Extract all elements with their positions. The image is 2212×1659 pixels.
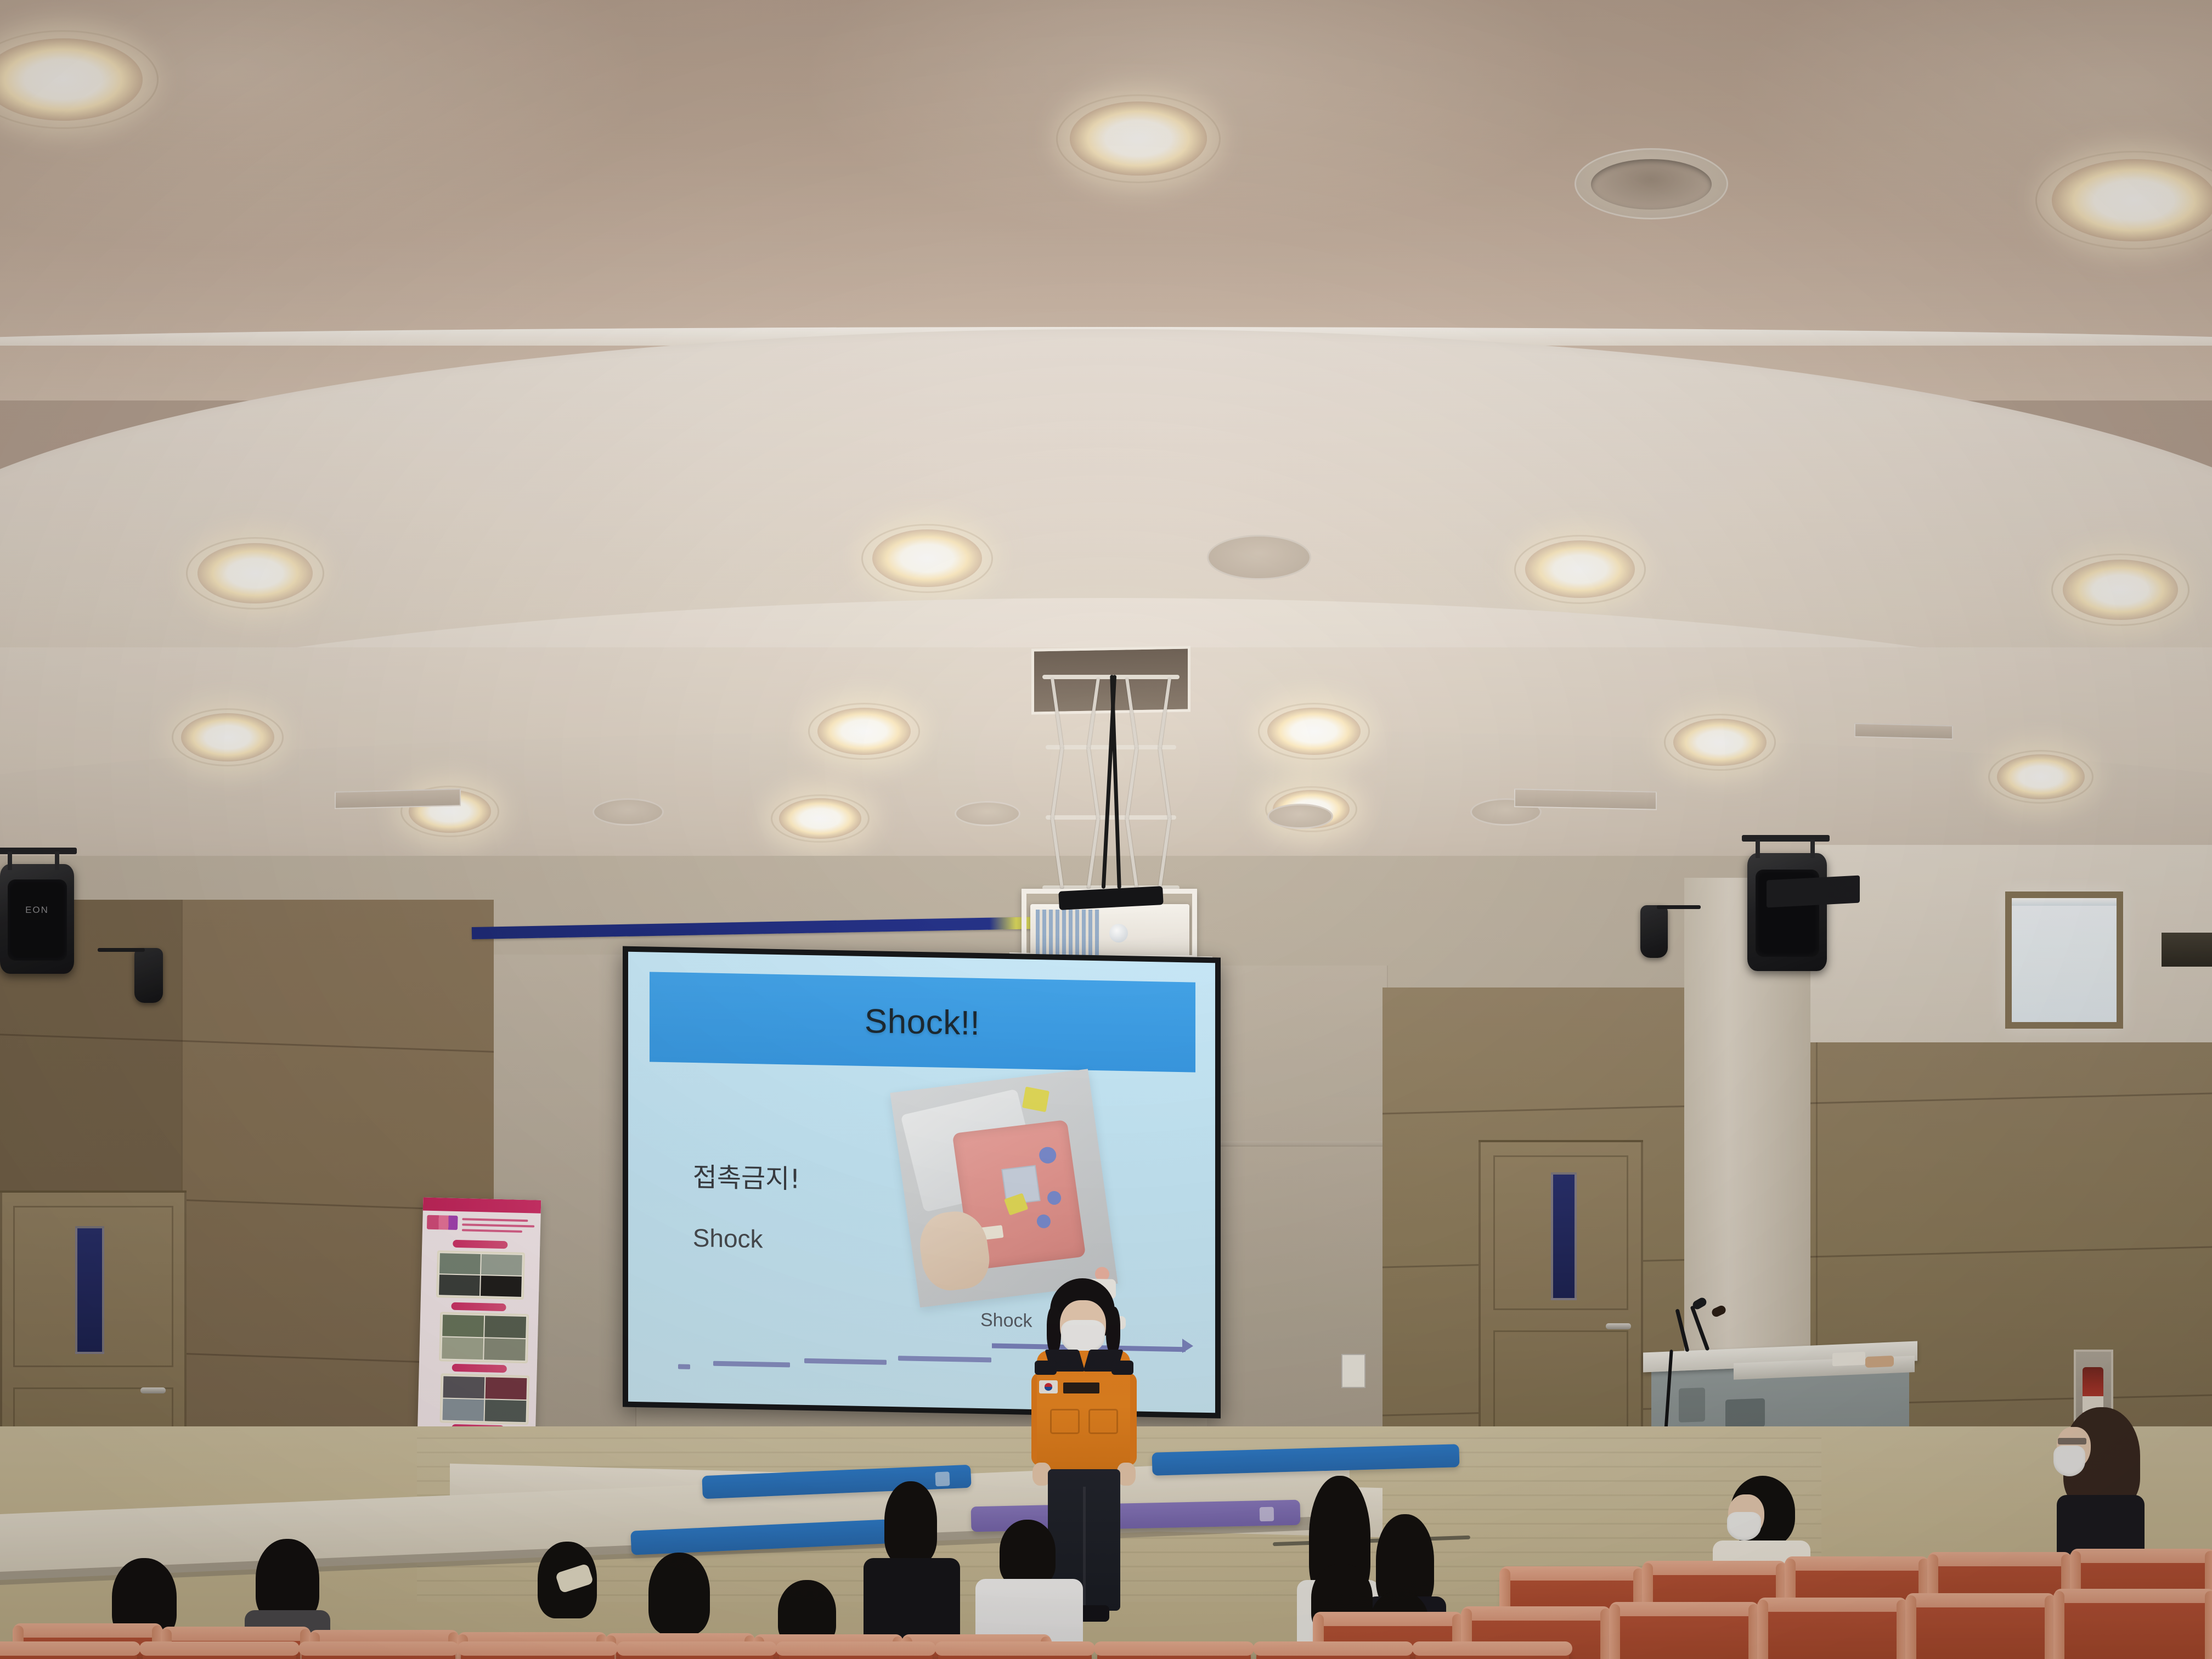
- theater-seat[interactable]: [143, 1646, 296, 1659]
- wall-panel-seam: [1207, 1141, 1388, 1147]
- poster-photo-grid: [436, 1250, 525, 1300]
- speaker-arm: [55, 851, 59, 870]
- theater-seat[interactable]: [620, 1646, 774, 1659]
- speaker-arm: [1756, 839, 1760, 858]
- ceiling-downlight: [872, 529, 982, 587]
- speaker-arm: [1810, 839, 1815, 858]
- stage-light-arm: [1657, 905, 1701, 909]
- ceiling-downlight: [198, 543, 313, 603]
- speaker-arm: [8, 851, 12, 870]
- podium-control-panel: [1725, 1398, 1765, 1429]
- ceiling-vent-disc: [1207, 535, 1311, 580]
- instructor-face-mask: [1061, 1320, 1105, 1354]
- ceiling-downlight: [2063, 560, 2178, 620]
- ceiling-downlight: [181, 713, 274, 761]
- ceiling-vent-disc: [955, 801, 1020, 826]
- slide-english-text: Shock: [693, 1223, 763, 1254]
- attendee-right-with-glasses: [2049, 1407, 2153, 1572]
- instructor-hair-side: [1106, 1307, 1120, 1354]
- instructor-hair-side: [1047, 1307, 1061, 1354]
- korean-flag-patch-icon: [1039, 1380, 1058, 1393]
- instructor-pocket: [1050, 1409, 1080, 1434]
- poster-photo-grid: [439, 1373, 529, 1425]
- ceiling-downlight: [2052, 159, 2212, 241]
- theater-seat[interactable]: [0, 1646, 137, 1659]
- ceiling-downlight: [1997, 754, 2085, 799]
- aed-button: [1038, 1146, 1058, 1165]
- auditorium-scene: EON EON: [0, 0, 2212, 1659]
- slide-progress-arrowhead: [1182, 1339, 1193, 1353]
- aed-button: [1046, 1190, 1062, 1205]
- door-glass-panel: [1551, 1172, 1577, 1300]
- aed-pad-connector: [1022, 1087, 1049, 1113]
- ceiling-air-vent: [1854, 723, 1953, 740]
- slide-title-banner: Shock!!: [650, 972, 1195, 1073]
- speaker-bracket-right: [1742, 835, 1830, 842]
- instructor-epaulette: [1035, 1361, 1057, 1375]
- theater-seat[interactable]: [302, 1646, 455, 1659]
- instructor-name-tag: [1063, 1383, 1099, 1393]
- ceiling-vent-disc: [592, 798, 664, 826]
- instructor-pocket: [1088, 1409, 1118, 1434]
- papers-on-podium: [1832, 1352, 1865, 1367]
- door-glass-panel: [75, 1226, 104, 1354]
- stage-light-left: [134, 948, 163, 1003]
- ceiling-downlight: [1070, 101, 1207, 176]
- wall-switch-plate[interactable]: [1341, 1354, 1365, 1388]
- projector-scissor-lift: [1042, 675, 1180, 894]
- eyeglasses-icon: [2058, 1438, 2086, 1444]
- aed-device-photo: [890, 1069, 1118, 1308]
- speaker-right: EON: [1747, 853, 1827, 971]
- podium-panel: [1679, 1387, 1705, 1423]
- ceiling-vent: [1591, 159, 1712, 210]
- theater-seat[interactable]: [1256, 1646, 1410, 1659]
- poster-logo: [427, 1215, 458, 1230]
- theater-seat[interactable]: [461, 1646, 614, 1659]
- stage-light-arm: [98, 948, 145, 952]
- ceiling-vent-disc: [1267, 804, 1333, 829]
- theater-seat[interactable]: [779, 1646, 933, 1659]
- aed-button: [1036, 1214, 1052, 1229]
- ceiling-downlight: [1525, 540, 1635, 598]
- ceiling-downlight: [1673, 719, 1767, 766]
- door-handle-left: [140, 1387, 166, 1393]
- instructor-epaulette: [1111, 1361, 1133, 1375]
- ceiling-air-vent: [335, 788, 461, 809]
- theater-seat[interactable]: [1415, 1646, 1569, 1659]
- poster-photo-grid: [439, 1312, 529, 1363]
- theater-seat[interactable]: [938, 1646, 1092, 1659]
- ceiling-downlight: [0, 38, 143, 121]
- speaker-left: EON: [0, 864, 74, 974]
- theater-seat[interactable]: [1097, 1646, 1251, 1659]
- ceiling-downlight: [817, 708, 911, 755]
- slide-title-text: Shock!!: [865, 1002, 980, 1043]
- wall-air-vent: [2162, 933, 2212, 967]
- object-on-podium: [1865, 1356, 1894, 1368]
- ceiling-bar-fixture: [1767, 876, 1860, 908]
- slide-korean-text: 접촉금지!: [693, 1155, 800, 1196]
- ceiling-air-vent: [1514, 788, 1657, 810]
- seat-row-front: [0, 1646, 2212, 1659]
- slide-shock-caption: Shock: [980, 1310, 1032, 1332]
- speaker-brand-label: EON: [25, 905, 49, 916]
- stage-light-right: [1640, 905, 1668, 958]
- window-with-shade: [2005, 891, 2123, 1029]
- ceiling-downlight: [779, 798, 861, 839]
- ceiling-downlight: [1267, 708, 1361, 755]
- wall-panel: [1207, 966, 1388, 1492]
- door-handle-right: [1606, 1323, 1631, 1329]
